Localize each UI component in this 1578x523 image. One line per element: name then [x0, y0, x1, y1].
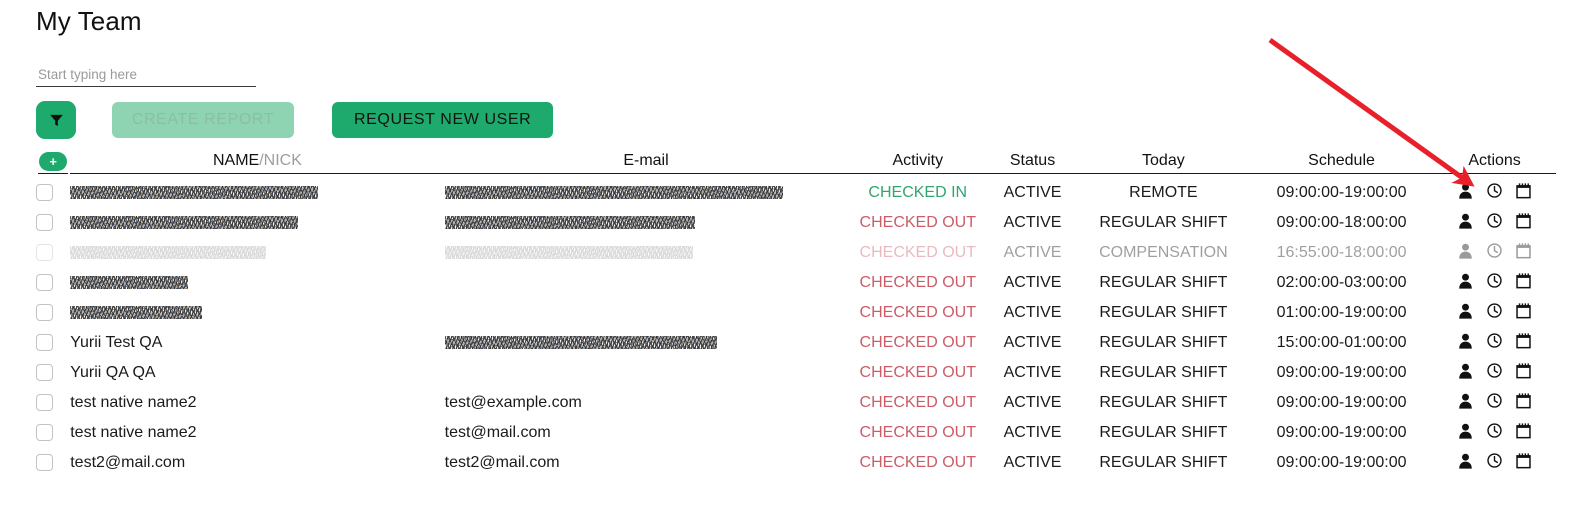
- calendar-icon[interactable]: [1516, 213, 1531, 229]
- header-today[interactable]: Today: [1077, 150, 1250, 178]
- row-name: Yurii QA QA: [70, 364, 155, 381]
- redacted-name: [70, 276, 188, 289]
- header-activity[interactable]: Activity: [847, 150, 988, 178]
- table-row[interactable]: test2@mail.comtest2@mail.comCHECKED OUTA…: [36, 448, 1556, 478]
- row-email-cell: [445, 178, 848, 208]
- table-body: CHECKED INACTIVEREMOTE09:00:00-19:00:00C…: [36, 178, 1556, 478]
- row-actions-cell: [1433, 298, 1556, 328]
- redacted-name: [70, 306, 202, 319]
- row-email-cell: [445, 268, 848, 298]
- row-action-icons: [1458, 453, 1531, 469]
- schedule-value: 09:00:00-19:00:00: [1277, 424, 1407, 441]
- team-table-area: + NAME/NICK E-mail Activity Status: [36, 150, 1556, 478]
- row-name: Yurii Test QA: [70, 334, 162, 351]
- row-status-cell: ACTIVE: [988, 388, 1077, 418]
- row-checkbox[interactable]: [36, 244, 53, 261]
- schedule-value: 09:00:00-19:00:00: [1277, 364, 1407, 381]
- calendar-icon[interactable]: [1516, 243, 1531, 259]
- row-status-cell: ACTIVE: [988, 268, 1077, 298]
- row-today-cell: REGULAR SHIFT: [1077, 358, 1250, 388]
- row-schedule-cell: 09:00:00-19:00:00: [1250, 418, 1433, 448]
- row-email-cell: [445, 358, 848, 388]
- today-value: REGULAR SHIFT: [1099, 424, 1227, 441]
- row-checkbox[interactable]: [36, 424, 53, 441]
- row-action-icons: [1458, 333, 1531, 349]
- row-today-cell: REGULAR SHIFT: [1077, 268, 1250, 298]
- person-icon[interactable]: [1458, 363, 1473, 379]
- row-activity-cell: CHECKED OUT: [847, 268, 988, 298]
- row-checkbox[interactable]: [36, 274, 53, 291]
- row-checkbox[interactable]: [36, 454, 53, 471]
- row-schedule-cell: 02:00:00-03:00:00: [1250, 268, 1433, 298]
- row-name: test native name2: [70, 394, 196, 411]
- redacted-name: [70, 246, 266, 259]
- person-icon[interactable]: [1458, 213, 1473, 229]
- today-value: REGULAR SHIFT: [1099, 274, 1227, 291]
- row-name: test native name2: [70, 424, 196, 441]
- row-schedule-cell: 09:00:00-19:00:00: [1250, 178, 1433, 208]
- activity-status-badge: CHECKED OUT: [860, 214, 976, 231]
- table-row[interactable]: CHECKED OUTACTIVEREGULAR SHIFT01:00:00-1…: [36, 298, 1556, 328]
- calendar-icon[interactable]: [1516, 183, 1531, 199]
- table-row[interactable]: CHECKED OUTACTIVECOMPENSATION16:55:00-18…: [36, 238, 1556, 268]
- row-email-cell: [445, 328, 848, 358]
- person-icon[interactable]: [1458, 333, 1473, 349]
- row-action-icons: [1458, 423, 1531, 439]
- row-activity-cell: CHECKED OUT: [847, 448, 988, 478]
- header-email-label: E-mail: [445, 152, 848, 174]
- row-actions-cell: [1433, 388, 1556, 418]
- add-member-badge[interactable]: +: [39, 152, 67, 171]
- person-icon[interactable]: [1458, 273, 1473, 289]
- row-name-cell: test native name2: [70, 418, 444, 448]
- schedule-value: 15:00:00-01:00:00: [1277, 334, 1407, 351]
- row-checkbox-cell: [36, 358, 70, 388]
- row-name-cell: Yurii Test QA: [70, 328, 444, 358]
- row-checkbox-cell: [36, 418, 70, 448]
- row-actions-cell: [1433, 418, 1556, 448]
- row-action-icons: [1458, 393, 1531, 409]
- row-schedule-cell: 09:00:00-19:00:00: [1250, 388, 1433, 418]
- redacted-name: [70, 216, 298, 229]
- search-input[interactable]: [36, 67, 256, 87]
- row-checkbox-cell: [36, 268, 70, 298]
- row-status-cell: ACTIVE: [988, 298, 1077, 328]
- today-value: REGULAR SHIFT: [1099, 304, 1227, 321]
- row-name-cell: Yurii QA QA: [70, 358, 444, 388]
- calendar-icon[interactable]: [1516, 363, 1531, 379]
- today-value: REGULAR SHIFT: [1099, 394, 1227, 411]
- row-activity-cell: CHECKED OUT: [847, 238, 988, 268]
- redacted-email: [445, 336, 717, 349]
- person-icon[interactable]: [1458, 303, 1473, 319]
- row-checkbox[interactable]: [36, 394, 53, 411]
- activity-status-badge: CHECKED OUT: [860, 394, 976, 411]
- row-status-cell: ACTIVE: [988, 448, 1077, 478]
- row-name-cell: test2@mail.com: [70, 448, 444, 478]
- row-status-cell: ACTIVE: [988, 418, 1077, 448]
- row-checkbox[interactable]: [36, 334, 53, 351]
- activity-status-badge: CHECKED OUT: [860, 334, 976, 351]
- row-schedule-cell: 16:55:00-18:00:00: [1250, 238, 1433, 268]
- header-schedule[interactable]: Schedule: [1250, 150, 1433, 178]
- header-today-label: Today: [1077, 152, 1250, 174]
- row-action-icons: [1458, 243, 1531, 259]
- filter-button[interactable]: [36, 101, 76, 139]
- row-action-icons: [1458, 303, 1531, 319]
- person-icon[interactable]: [1458, 423, 1473, 439]
- clock-icon[interactable]: [1487, 213, 1502, 228]
- row-today-cell: REGULAR SHIFT: [1077, 448, 1250, 478]
- row-checkbox[interactable]: [36, 214, 53, 231]
- header-add-cell: +: [36, 150, 70, 178]
- row-email-cell: [445, 298, 848, 328]
- person-icon[interactable]: [1458, 393, 1473, 409]
- row-activity-cell: CHECKED IN: [847, 178, 988, 208]
- row-action-icons: [1458, 273, 1531, 289]
- row-status-cell: ACTIVE: [988, 178, 1077, 208]
- row-email: test2@mail.com: [445, 454, 560, 471]
- today-value: COMPENSATION: [1099, 244, 1228, 261]
- row-checkbox-cell: [36, 208, 70, 238]
- row-actions-cell: [1433, 268, 1556, 298]
- activity-status-badge: CHECKED OUT: [860, 274, 976, 291]
- row-activity-cell: CHECKED OUT: [847, 418, 988, 448]
- today-value: REGULAR SHIFT: [1099, 334, 1227, 351]
- row-activity-cell: CHECKED OUT: [847, 298, 988, 328]
- row-today-cell: REGULAR SHIFT: [1077, 208, 1250, 238]
- row-email-cell: test@example.com: [445, 388, 848, 418]
- today-value: REMOTE: [1129, 184, 1197, 201]
- status-value: ACTIVE: [1004, 274, 1062, 291]
- schedule-value: 09:00:00-19:00:00: [1277, 454, 1407, 471]
- clock-icon[interactable]: [1487, 363, 1502, 378]
- row-checkbox[interactable]: [36, 304, 53, 321]
- header-name[interactable]: NAME/NICK: [70, 150, 444, 178]
- row-today-cell: COMPENSATION: [1077, 238, 1250, 268]
- row-schedule-cell: 15:00:00-01:00:00: [1250, 328, 1433, 358]
- status-value: ACTIVE: [1004, 364, 1062, 381]
- create-report-button[interactable]: CREATE REPORT: [112, 102, 294, 138]
- clock-icon[interactable]: [1487, 453, 1502, 468]
- schedule-value: 09:00:00-18:00:00: [1277, 214, 1407, 231]
- redacted-email: [445, 186, 783, 199]
- funnel-icon: [49, 113, 64, 128]
- clock-icon[interactable]: [1487, 303, 1502, 318]
- header-actions: Actions: [1433, 150, 1556, 178]
- row-activity-cell: CHECKED OUT: [847, 358, 988, 388]
- row-name-cell: [70, 238, 444, 268]
- row-email-cell: [445, 208, 848, 238]
- row-status-cell: ACTIVE: [988, 358, 1077, 388]
- redacted-email: [445, 216, 695, 229]
- table-row[interactable]: Yurii QA QACHECKED OUTACTIVEREGULAR SHIF…: [36, 358, 1556, 388]
- row-email-cell: test@mail.com: [445, 418, 848, 448]
- activity-status-badge: CHECKED OUT: [860, 424, 976, 441]
- row-email-cell: [445, 238, 848, 268]
- team-table: + NAME/NICK E-mail Activity Status: [36, 150, 1556, 478]
- clock-icon[interactable]: [1487, 243, 1502, 258]
- status-value: ACTIVE: [1004, 394, 1062, 411]
- row-actions-cell: [1433, 238, 1556, 268]
- row-activity-cell: CHECKED OUT: [847, 328, 988, 358]
- row-checkbox-cell: [36, 328, 70, 358]
- row-email: test@mail.com: [445, 424, 551, 441]
- activity-status-badge: CHECKED OUT: [860, 304, 976, 321]
- row-action-icons: [1458, 183, 1531, 199]
- person-icon[interactable]: [1458, 453, 1473, 469]
- today-value: REGULAR SHIFT: [1099, 454, 1227, 471]
- row-action-icons: [1458, 213, 1531, 229]
- row-status-cell: ACTIVE: [988, 238, 1077, 268]
- schedule-value: 01:00:00-19:00:00: [1277, 304, 1407, 321]
- status-value: ACTIVE: [1004, 334, 1062, 351]
- table-row[interactable]: CHECKED OUTACTIVEREGULAR SHIFT09:00:00-1…: [36, 208, 1556, 238]
- header-status[interactable]: Status: [988, 150, 1077, 178]
- row-name-cell: [70, 178, 444, 208]
- row-actions-cell: [1433, 178, 1556, 208]
- row-status-cell: ACTIVE: [988, 328, 1077, 358]
- activity-status-badge: CHECKED OUT: [860, 454, 976, 471]
- clock-icon[interactable]: [1487, 273, 1502, 288]
- row-name: test2@mail.com: [70, 454, 185, 471]
- calendar-icon[interactable]: [1516, 453, 1531, 469]
- row-actions-cell: [1433, 358, 1556, 388]
- row-schedule-cell: 09:00:00-19:00:00: [1250, 448, 1433, 478]
- schedule-value: 09:00:00-19:00:00: [1277, 394, 1407, 411]
- table-row[interactable]: test native name2test@example.comCHECKED…: [36, 388, 1556, 418]
- row-schedule-cell: 01:00:00-19:00:00: [1250, 298, 1433, 328]
- clock-icon[interactable]: [1487, 423, 1502, 438]
- row-today-cell: REGULAR SHIFT: [1077, 388, 1250, 418]
- calendar-icon[interactable]: [1516, 423, 1531, 439]
- request-new-user-button[interactable]: REQUEST NEW USER: [332, 102, 553, 138]
- status-value: ACTIVE: [1004, 454, 1062, 471]
- today-value: REGULAR SHIFT: [1099, 364, 1227, 381]
- clock-icon[interactable]: [1487, 393, 1502, 408]
- header-email[interactable]: E-mail: [445, 150, 848, 178]
- row-actions-cell: [1433, 208, 1556, 238]
- row-activity-cell: CHECKED OUT: [847, 208, 988, 238]
- table-row[interactable]: CHECKED OUTACTIVEREGULAR SHIFT02:00:00-0…: [36, 268, 1556, 298]
- row-today-cell: REMOTE: [1077, 178, 1250, 208]
- status-value: ACTIVE: [1004, 424, 1062, 441]
- row-checkbox-cell: [36, 238, 70, 268]
- search-field-wrapper: [36, 66, 254, 87]
- table-header-row: + NAME/NICK E-mail Activity Status: [36, 150, 1556, 178]
- row-today-cell: REGULAR SHIFT: [1077, 298, 1250, 328]
- row-action-icons: [1458, 363, 1531, 379]
- row-today-cell: REGULAR SHIFT: [1077, 328, 1250, 358]
- calendar-icon[interactable]: [1516, 393, 1531, 409]
- row-name-cell: [70, 298, 444, 328]
- redacted-name: [70, 186, 318, 199]
- row-actions-cell: [1433, 328, 1556, 358]
- header-nick-label: /NICK: [259, 152, 302, 169]
- row-today-cell: REGULAR SHIFT: [1077, 418, 1250, 448]
- row-checkbox-cell: [36, 388, 70, 418]
- row-checkbox-cell: [36, 178, 70, 208]
- today-value: REGULAR SHIFT: [1099, 214, 1227, 231]
- schedule-value: 16:55:00-18:00:00: [1277, 244, 1407, 261]
- clock-icon[interactable]: [1487, 183, 1502, 198]
- row-email: test@example.com: [445, 394, 582, 411]
- status-value: ACTIVE: [1004, 244, 1062, 261]
- calendar-icon[interactable]: [1516, 303, 1531, 319]
- row-name-cell: [70, 208, 444, 238]
- header-status-label: Status: [988, 152, 1077, 174]
- row-activity-cell: CHECKED OUT: [847, 388, 988, 418]
- calendar-icon[interactable]: [1516, 333, 1531, 349]
- schedule-value: 09:00:00-19:00:00: [1277, 184, 1407, 201]
- row-checkbox[interactable]: [36, 364, 53, 381]
- header-schedule-label: Schedule: [1250, 152, 1433, 174]
- header-activity-label: Activity: [847, 152, 988, 174]
- activity-status-badge: CHECKED OUT: [860, 364, 976, 381]
- calendar-icon[interactable]: [1516, 273, 1531, 289]
- schedule-value: 02:00:00-03:00:00: [1277, 274, 1407, 291]
- row-schedule-cell: 09:00:00-18:00:00: [1250, 208, 1433, 238]
- table-row[interactable]: CHECKED INACTIVEREMOTE09:00:00-19:00:00: [36, 178, 1556, 208]
- row-name-cell: [70, 268, 444, 298]
- row-checkbox-cell: [36, 448, 70, 478]
- activity-status-badge: CHECKED OUT: [860, 244, 976, 261]
- redacted-email: [445, 246, 693, 259]
- page-title: My Team: [36, 6, 142, 37]
- header-actions-label: Actions: [1433, 152, 1556, 174]
- table-row[interactable]: Yurii Test QACHECKED OUTACTIVEREGULAR SH…: [36, 328, 1556, 358]
- status-value: ACTIVE: [1004, 214, 1062, 231]
- row-name-cell: test native name2: [70, 388, 444, 418]
- row-status-cell: ACTIVE: [988, 208, 1077, 238]
- row-checkbox-cell: [36, 298, 70, 328]
- status-value: ACTIVE: [1004, 304, 1062, 321]
- row-checkbox[interactable]: [36, 184, 53, 201]
- person-icon[interactable]: [1458, 183, 1473, 199]
- clock-icon[interactable]: [1487, 333, 1502, 348]
- row-schedule-cell: 09:00:00-19:00:00: [1250, 358, 1433, 388]
- action-bar: CREATE REPORT REQUEST NEW USER: [36, 101, 553, 139]
- person-icon[interactable]: [1458, 243, 1473, 259]
- row-email-cell: test2@mail.com: [445, 448, 848, 478]
- row-actions-cell: [1433, 448, 1556, 478]
- table-row[interactable]: test native name2test@mail.comCHECKED OU…: [36, 418, 1556, 448]
- status-value: ACTIVE: [1004, 184, 1062, 201]
- activity-status-badge: CHECKED IN: [868, 184, 967, 201]
- header-name-label: NAME: [213, 152, 259, 169]
